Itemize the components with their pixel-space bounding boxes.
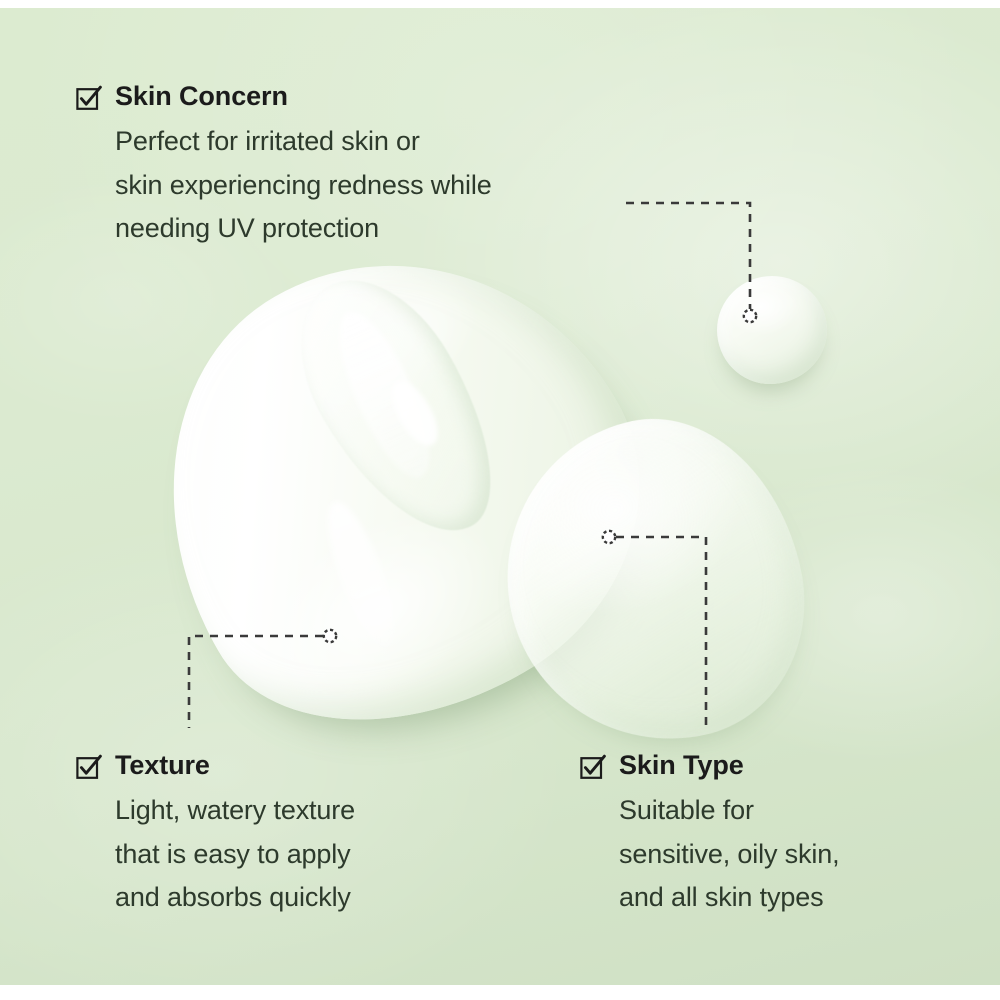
feature-body-skin-type: Suitable for sensitive, oily skin, and a… <box>619 789 839 920</box>
feature-title-skin-type: Skin Type <box>619 751 744 779</box>
checkbox-checked-icon <box>76 85 102 111</box>
feature-title-texture: Texture <box>115 751 210 779</box>
checkbox-checked-icon <box>580 754 606 780</box>
feature-title-skin-concern: Skin Concern <box>115 82 288 110</box>
product-feature-infographic: Skin Concern Perfect for irritated skin … <box>0 0 1000 1000</box>
feature-block-texture: Texture Light, watery texture that is ea… <box>76 751 355 920</box>
feature-body-texture: Light, watery texture that is easy to ap… <box>115 789 355 920</box>
feature-heading-skin-type: Skin Type <box>580 751 839 780</box>
cream-blob-round-droplet <box>717 276 827 384</box>
feature-block-skin-type: Skin Type Suitable for sensitive, oily s… <box>580 751 839 920</box>
checkbox-checked-icon <box>76 754 102 780</box>
feature-body-skin-concern: Perfect for irritated skin or skin exper… <box>115 120 492 251</box>
feature-heading-texture: Texture <box>76 751 355 780</box>
feature-heading-skin-concern: Skin Concern <box>76 82 492 111</box>
feature-block-skin-concern: Skin Concern Perfect for irritated skin … <box>76 82 492 251</box>
